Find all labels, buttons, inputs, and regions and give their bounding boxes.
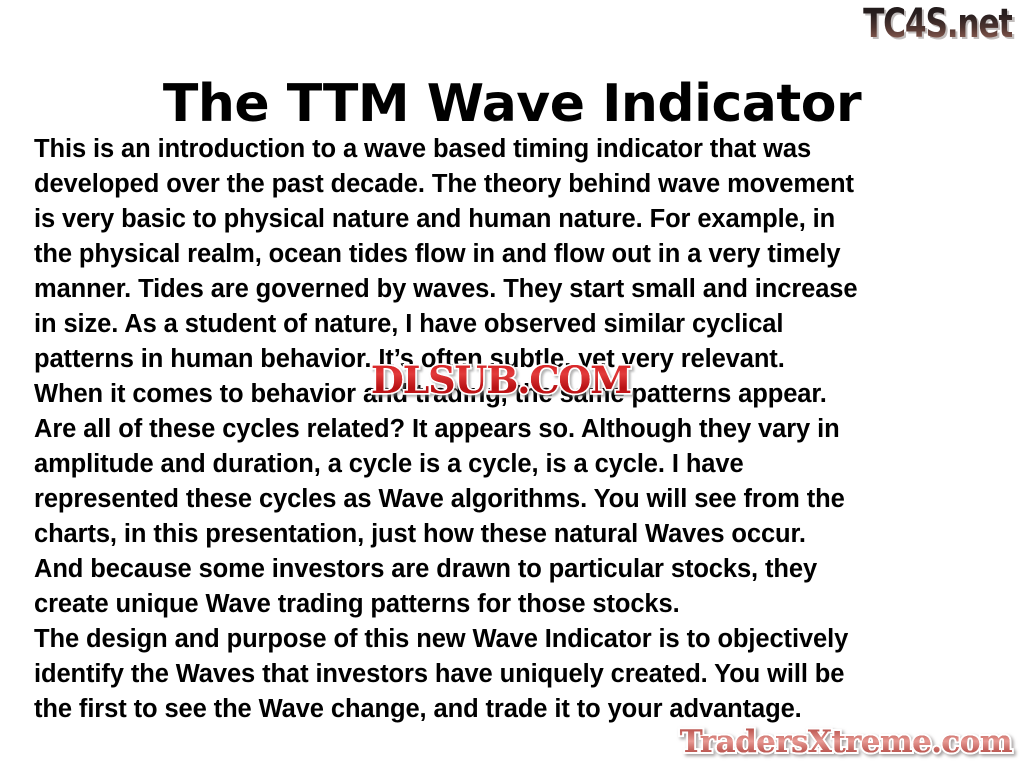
- body-line: developed over the past decade. The theo…: [34, 167, 1002, 202]
- body-line: identify the Waves that investors have u…: [34, 657, 1002, 692]
- body-line: This is an introduction to a wave based …: [34, 132, 1002, 167]
- page-title: The TTM Wave Indicator: [0, 75, 1024, 133]
- body-text-block: This is an introduction to a wave based …: [34, 132, 1002, 727]
- tc4s-logo: TC4S.net: [863, 2, 1012, 46]
- body-line: represented these cycles as Wave algorit…: [34, 482, 1002, 517]
- body-line: Are all of these cycles related? It appe…: [34, 412, 1002, 447]
- body-line: And because some investors are drawn to …: [34, 552, 1002, 587]
- tradersxtreme-logo: TradersXtreme.com: [680, 722, 1012, 762]
- slide-canvas: TC4S.net TC4S.net The TTM Wave Indicator…: [0, 0, 1024, 768]
- body-line: amplitude and duration, a cycle is a cyc…: [34, 447, 1002, 482]
- body-line: is very basic to physical nature and hum…: [34, 202, 1002, 237]
- body-line: in size. As a student of nature, I have …: [34, 307, 1002, 342]
- body-line: The design and purpose of this new Wave …: [34, 622, 1002, 657]
- dlsub-watermark: DLSUB.COM: [371, 360, 631, 400]
- body-line: create unique Wave trading patterns for …: [34, 587, 1002, 622]
- body-line: the physical realm, ocean tides flow in …: [34, 237, 1002, 272]
- body-line: charts, in this presentation, just how t…: [34, 517, 1002, 552]
- body-line: manner. Tides are governed by waves. The…: [34, 272, 1002, 307]
